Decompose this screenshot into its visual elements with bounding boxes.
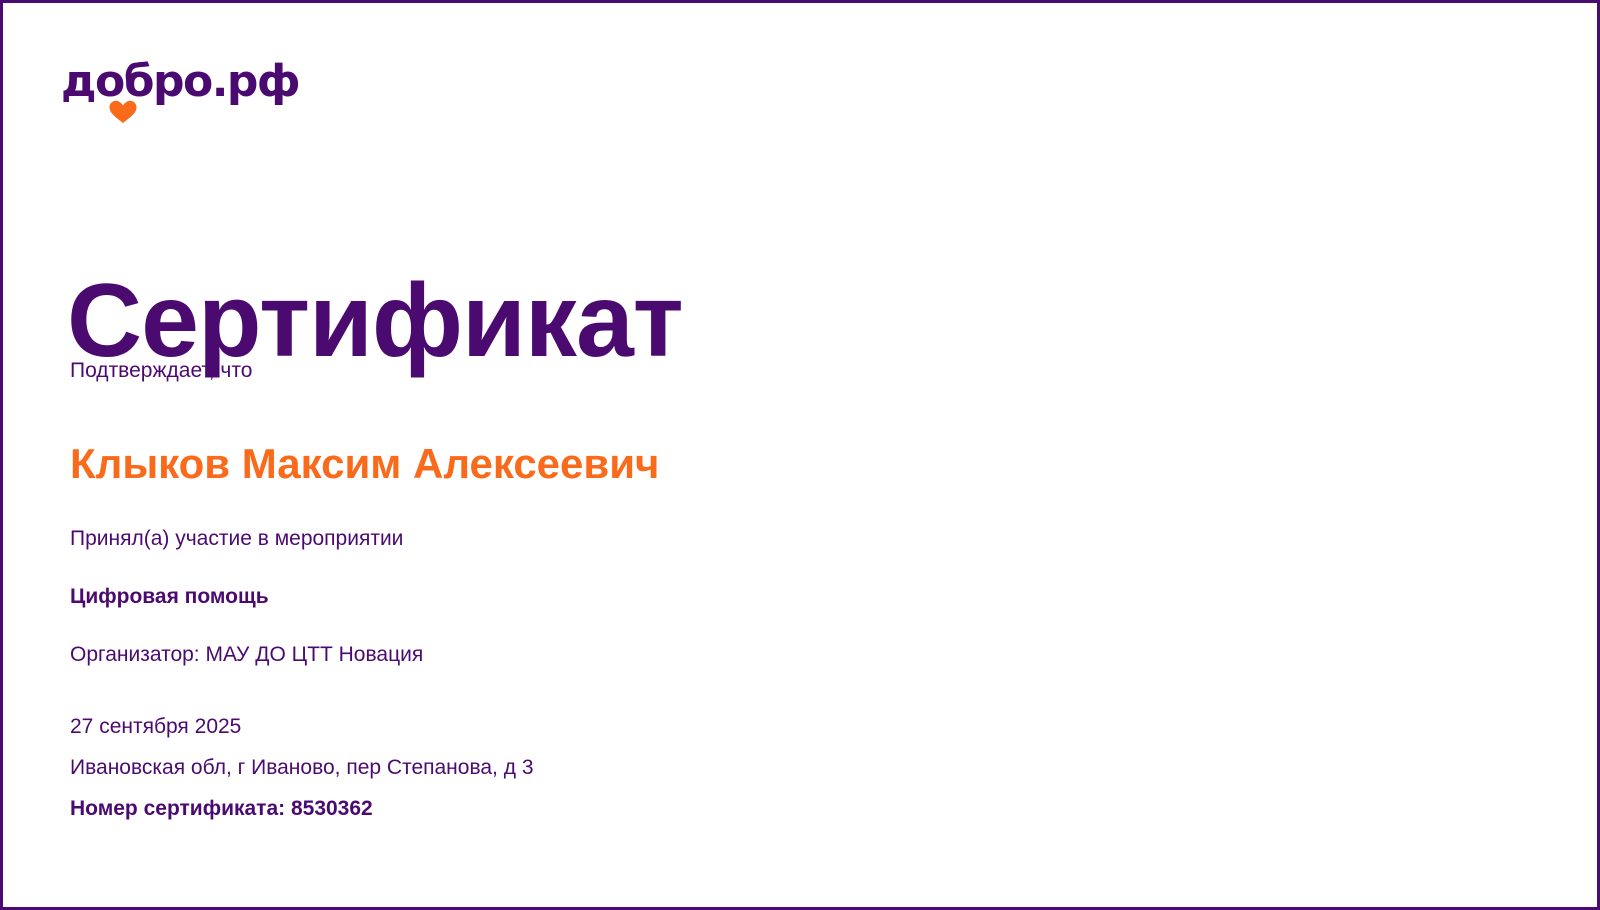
issue-location: Ивановская обл, г Иваново, пер Степанова… — [70, 756, 1470, 780]
recipient-name: Клыков Максим Алексеевич — [70, 440, 1470, 488]
brand-logo: добро.рф — [61, 60, 321, 122]
certificate-number: Номер сертификата: 8530362 — [70, 797, 1470, 821]
lead-text: Подтверждает, что — [70, 358, 1470, 384]
certificate-body: Подтверждает, что Клыков Максим Алексеев… — [70, 358, 1470, 667]
participation-text: Принял(а) участие в мероприятии — [70, 527, 1470, 551]
brand-logo-wordmark: добро.рф — [61, 60, 321, 104]
certificate-document: добро.рф Сертификат Подтверждает, что Кл… — [0, 0, 1600, 910]
issue-date: 27 сентября 2025 — [70, 715, 1470, 739]
event-name: Цифровая помощь — [70, 585, 1470, 609]
certificate-footer: 27 сентября 2025 Ивановская обл, г Ивано… — [70, 715, 1470, 821]
heart-icon — [108, 100, 138, 124]
organizer-text: Организатор: МАУ ДО ЦТТ Новация — [70, 643, 1470, 667]
